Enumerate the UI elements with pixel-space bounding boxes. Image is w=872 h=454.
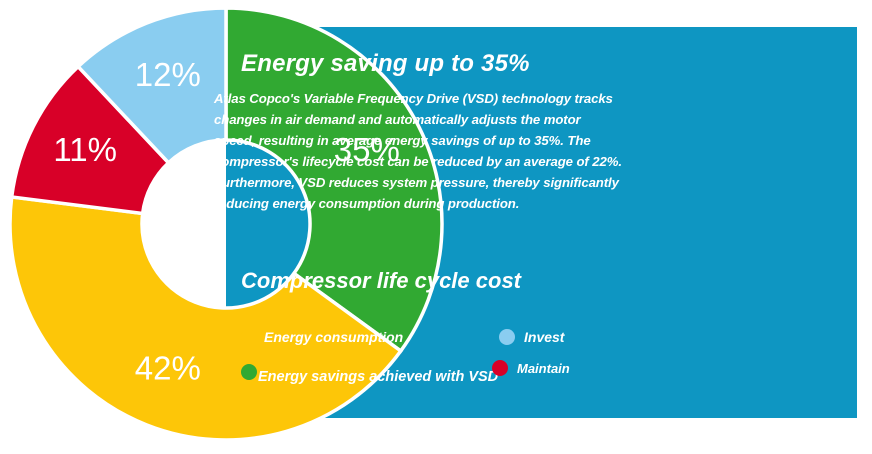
infographic-root: 35%42%11%12% Energy saving up to 35% Atl… — [0, 0, 872, 454]
legend: Energy consumption Energy savings achiev… — [241, 305, 631, 383]
donut-slice-label: 42% — [135, 350, 201, 387]
panel-heading: Energy saving up to 35% — [241, 50, 611, 78]
legend-swatch-icon — [241, 364, 257, 380]
panel-body-text: Atlas Copco's Variable Frequency Drive (… — [214, 88, 622, 214]
legend-item-energy-savings-vsd[interactable]: Energy savings achieved with VSD — [241, 364, 498, 384]
legend-swatch-icon — [499, 329, 515, 345]
legend-item-label: Invest — [524, 330, 564, 344]
donut-slice-label: 11% — [53, 131, 117, 168]
donut-slice-label: 12% — [135, 56, 201, 93]
legend-item-label: Maintain — [517, 362, 570, 375]
legend-item-maintain[interactable]: Maintain — [492, 360, 570, 376]
legend-item-label: Energy consumption — [264, 330, 403, 344]
legend-heading: Compressor life cycle cost — [241, 268, 521, 294]
legend-item-energy-consumption[interactable]: Energy consumption — [241, 329, 403, 344]
legend-item-label: Energy savings achieved with VSD — [258, 370, 498, 385]
legend-swatch-icon — [241, 329, 256, 344]
legend-item-invest[interactable]: Invest — [499, 329, 564, 345]
legend-swatch-icon — [492, 360, 508, 376]
